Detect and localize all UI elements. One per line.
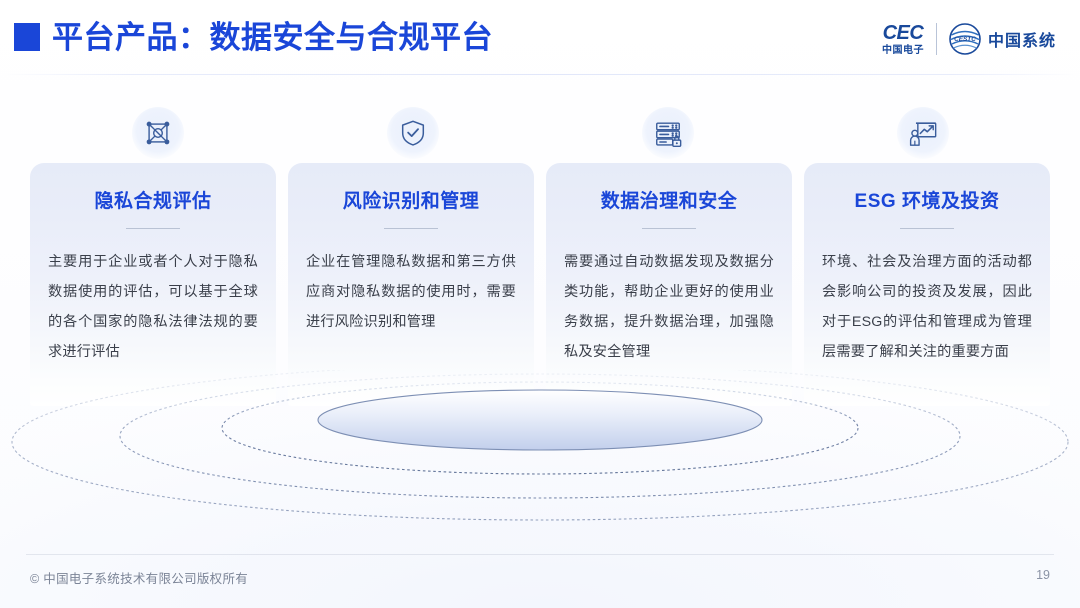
icon-slot-2 — [285, 104, 540, 162]
card-body: 需要通过自动数据发现及数据分类功能，帮助企业更好的使用业务数据，提升数据治理，加… — [564, 247, 774, 367]
card-title: ESG 环境及投资 — [822, 189, 1032, 215]
slide-footer: © 中国电子系统技术有限公司版权所有 19 — [0, 554, 1080, 608]
card-title-divider — [384, 228, 438, 229]
database-lock-icon — [642, 107, 694, 159]
slide-root: 平台产品：数据安全与合规平台 CEC 中国电子 CESTC — [0, 0, 1080, 608]
icon-slot-1 — [30, 104, 285, 162]
card-body: 环境、社会及治理方面的活动都会影响公司的投资及发展，因此对于ESG的评估和管理成… — [822, 247, 1032, 367]
card-body: 企业在管理隐私数据和第三方供应商对隐私数据的使用时，需要进行风险识别和管理 — [306, 247, 516, 337]
card-title-divider — [900, 228, 954, 229]
presentation-chart-icon — [897, 107, 949, 159]
title-bullet-square — [14, 23, 40, 51]
feature-icons-row — [30, 104, 1050, 162]
cec-logo: CEC 中国电子 — [882, 23, 924, 56]
header-divider — [0, 74, 1080, 75]
cec-logo-mark: CEC — [883, 23, 924, 43]
feature-card-2[interactable]: 风险识别和管理 企业在管理隐私数据和第三方供应商对隐私数据的使用时，需要进行风险… — [288, 163, 534, 406]
feature-cards-row: 隐私合规评估 主要用于企业或者个人对于隐私数据使用的评估，可以基于全球的各个国家… — [30, 163, 1050, 406]
feature-card-4[interactable]: ESG 环境及投资 环境、社会及治理方面的活动都会影响公司的投资及发展，因此对于… — [804, 163, 1050, 406]
copyright-text: © 中国电子系统技术有限公司版权所有 — [30, 568, 248, 587]
cec-logo-subtitle: 中国电子 — [882, 46, 924, 56]
feature-card-3[interactable]: 数据治理和安全 需要通过自动数据发现及数据分类功能，帮助企业更好的使用业务数据，… — [546, 163, 792, 406]
slide-header: 平台产品：数据安全与合规平台 CEC 中国电子 CESTC — [0, 0, 1080, 78]
cestc-logo-text: 中国系统 — [988, 27, 1056, 51]
footer-divider — [26, 554, 1054, 555]
card-title: 隐私合规评估 — [48, 189, 258, 215]
page-title: 平台产品：数据安全与合规平台 — [52, 16, 493, 60]
feature-card-1[interactable]: 隐私合规评估 主要用于企业或者个人对于隐私数据使用的评估，可以基于全球的各个国家… — [30, 163, 276, 406]
icon-slot-3 — [540, 104, 795, 162]
card-title-divider — [642, 228, 696, 229]
network-nodes-icon — [132, 107, 184, 159]
cestc-swirl-icon: CESTC — [949, 23, 981, 55]
logo-bar: CEC 中国电子 CESTC 中国系统 — [882, 16, 1056, 62]
logo-divider — [936, 23, 937, 55]
shield-check-icon — [387, 107, 439, 159]
card-title: 数据治理和安全 — [564, 189, 774, 215]
card-title-divider — [126, 228, 180, 229]
cestc-logo: CESTC 中国系统 — [949, 23, 1056, 55]
icon-slot-4 — [795, 104, 1050, 162]
page-number: 19 — [1036, 568, 1050, 582]
card-title: 风险识别和管理 — [306, 189, 516, 215]
svg-text:CESTC: CESTC — [954, 36, 976, 43]
card-body: 主要用于企业或者个人对于隐私数据使用的评估，可以基于全球的各个国家的隐私法律法规… — [48, 247, 258, 367]
